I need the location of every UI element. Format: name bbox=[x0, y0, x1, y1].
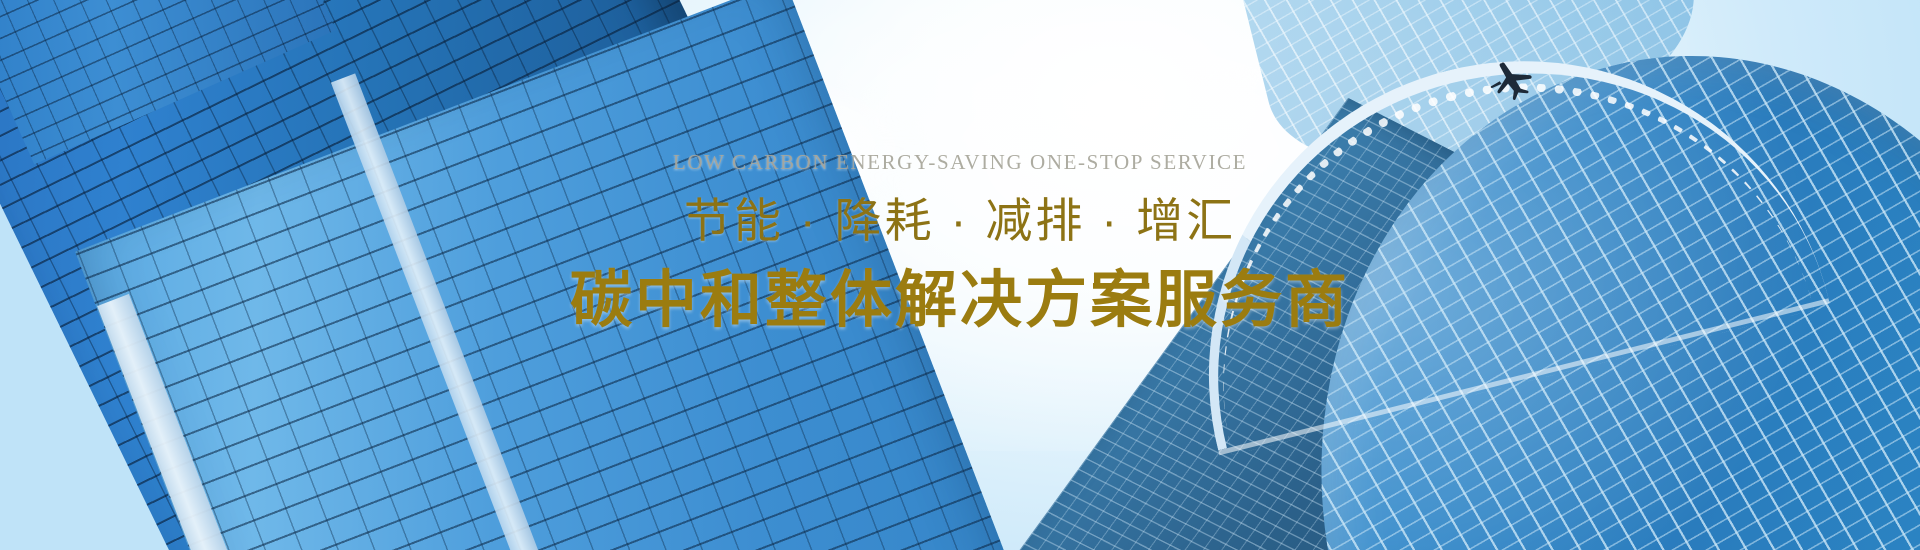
banner-copy: LOW CARBON ENERGY-SAVING ONE-STOP SERVIC… bbox=[0, 0, 1920, 550]
banner-subline: 节能 · 降耗 · 减排 · 增汇 bbox=[684, 195, 1236, 248]
hero-banner: LOW CARBON ENERGY-SAVING ONE-STOP SERVIC… bbox=[0, 0, 1920, 550]
banner-eyebrow: LOW CARBON ENERGY-SAVING ONE-STOP SERVIC… bbox=[673, 152, 1247, 173]
banner-headline: 碳中和整体解决方案服务商 bbox=[570, 266, 1350, 337]
